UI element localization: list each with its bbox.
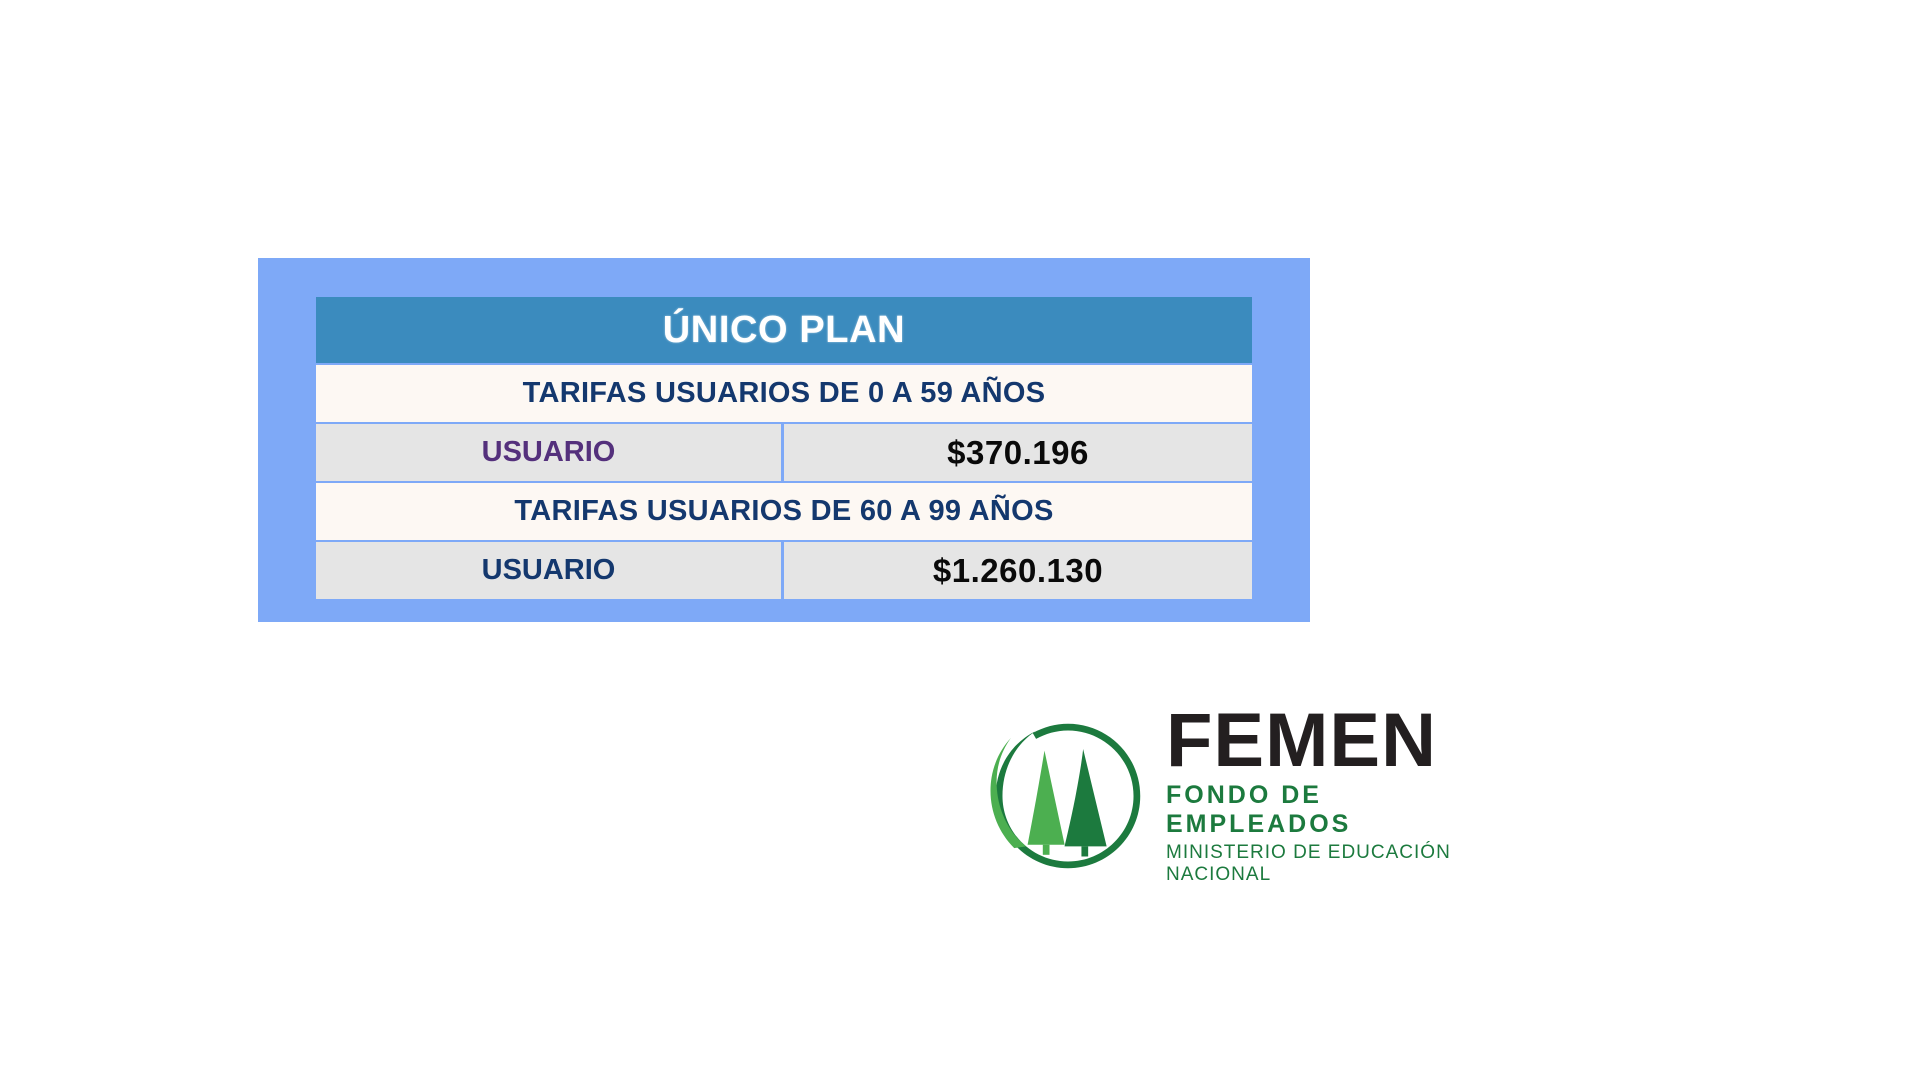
rate-panel: ÚNICO PLAN TARIFAS USUARIOS DE 0 A 59 AÑ…: [258, 258, 1310, 622]
table-row: USUARIO $370.196: [316, 424, 1252, 481]
table-row-section-heading: TARIFAS USUARIOS DE 0 A 59 AÑOS: [316, 365, 1252, 422]
rate-table: ÚNICO PLAN TARIFAS USUARIOS DE 0 A 59 AÑ…: [316, 295, 1252, 601]
section-heading-60-99: TARIFAS USUARIOS DE 60 A 99 AÑOS: [316, 483, 1252, 540]
femen-tagline-fondo-de-empleados: FONDO DE EMPLEADOS: [1166, 781, 1504, 839]
plan-title: ÚNICO PLAN: [316, 297, 1252, 363]
femen-tagline-ministerio: MINISTERIO DE EDUCACIÓN NACIONAL: [1166, 842, 1504, 886]
femen-logo-mark-icon: [984, 712, 1152, 880]
row-value-usuario-0-59: $370.196: [784, 424, 1252, 481]
table-row-title: ÚNICO PLAN: [316, 297, 1252, 363]
femen-logo: FEMEN FONDO DE EMPLEADOS MINISTERIO DE E…: [984, 706, 1504, 886]
row-label-usuario-0-59: USUARIO: [316, 424, 784, 481]
femen-wordmark: FEMEN: [1166, 706, 1504, 776]
row-value-usuario-60-99: $1.260.130: [784, 542, 1252, 599]
row-label-usuario-60-99: USUARIO: [316, 542, 784, 599]
table-row-section-heading: TARIFAS USUARIOS DE 60 A 99 AÑOS: [316, 483, 1252, 540]
table-row: USUARIO $1.260.130: [316, 542, 1252, 599]
section-heading-0-59: TARIFAS USUARIOS DE 0 A 59 AÑOS: [316, 365, 1252, 422]
femen-logo-text: FEMEN FONDO DE EMPLEADOS MINISTERIO DE E…: [1166, 706, 1504, 886]
